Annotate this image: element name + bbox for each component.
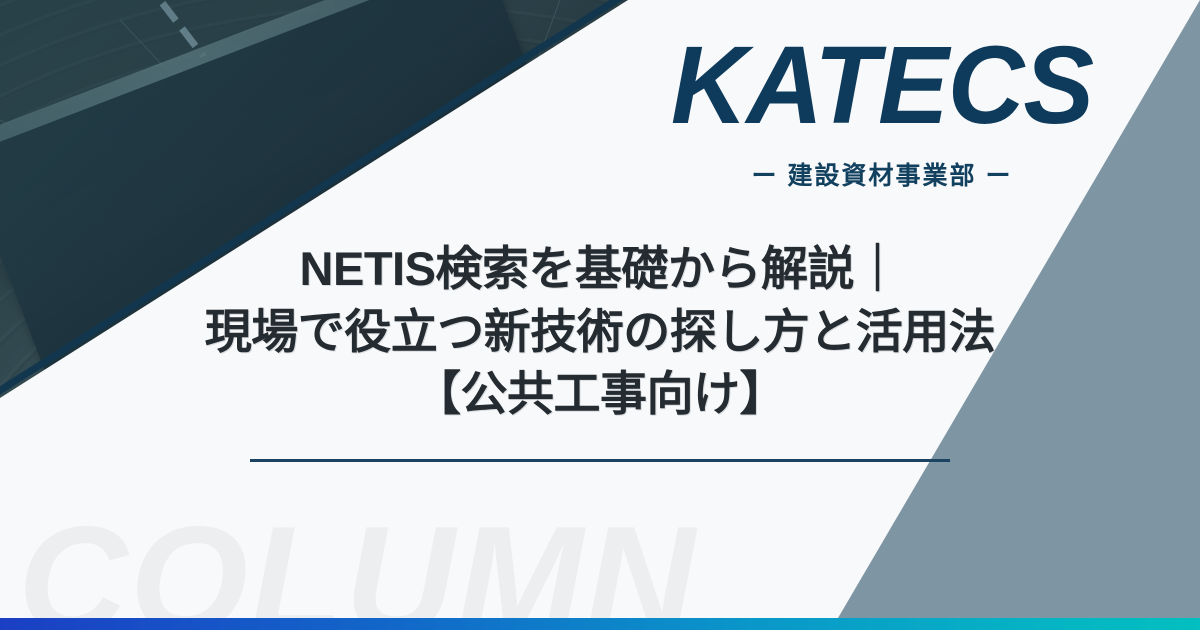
headline: NETIS検索を基礎から解説｜ 現場で役立つ新技術の探し方と活用法 【公共工事向… (0, 238, 1200, 426)
headline-line-1: NETIS検索を基礎から解説｜ (0, 238, 1200, 301)
banner-canvas: COLUMN KATECS ー 建設資材事業部 ー NETIS検索を基礎から解説… (0, 0, 1200, 630)
logo-division-label: ー 建設資材事業部 ー (602, 156, 1162, 192)
headline-line-3: 【公共工事向け】 (0, 363, 1200, 426)
column-watermark: COLUMN (18, 504, 697, 630)
logo-wordmark: KATECS (596, 31, 1167, 141)
bottom-accent-bar (0, 618, 1200, 630)
brand-logo: KATECS ー 建設資材事業部 ー (602, 34, 1162, 192)
headline-divider (250, 459, 950, 462)
headline-line-2: 現場で役立つ新技術の探し方と活用法 (0, 301, 1200, 364)
